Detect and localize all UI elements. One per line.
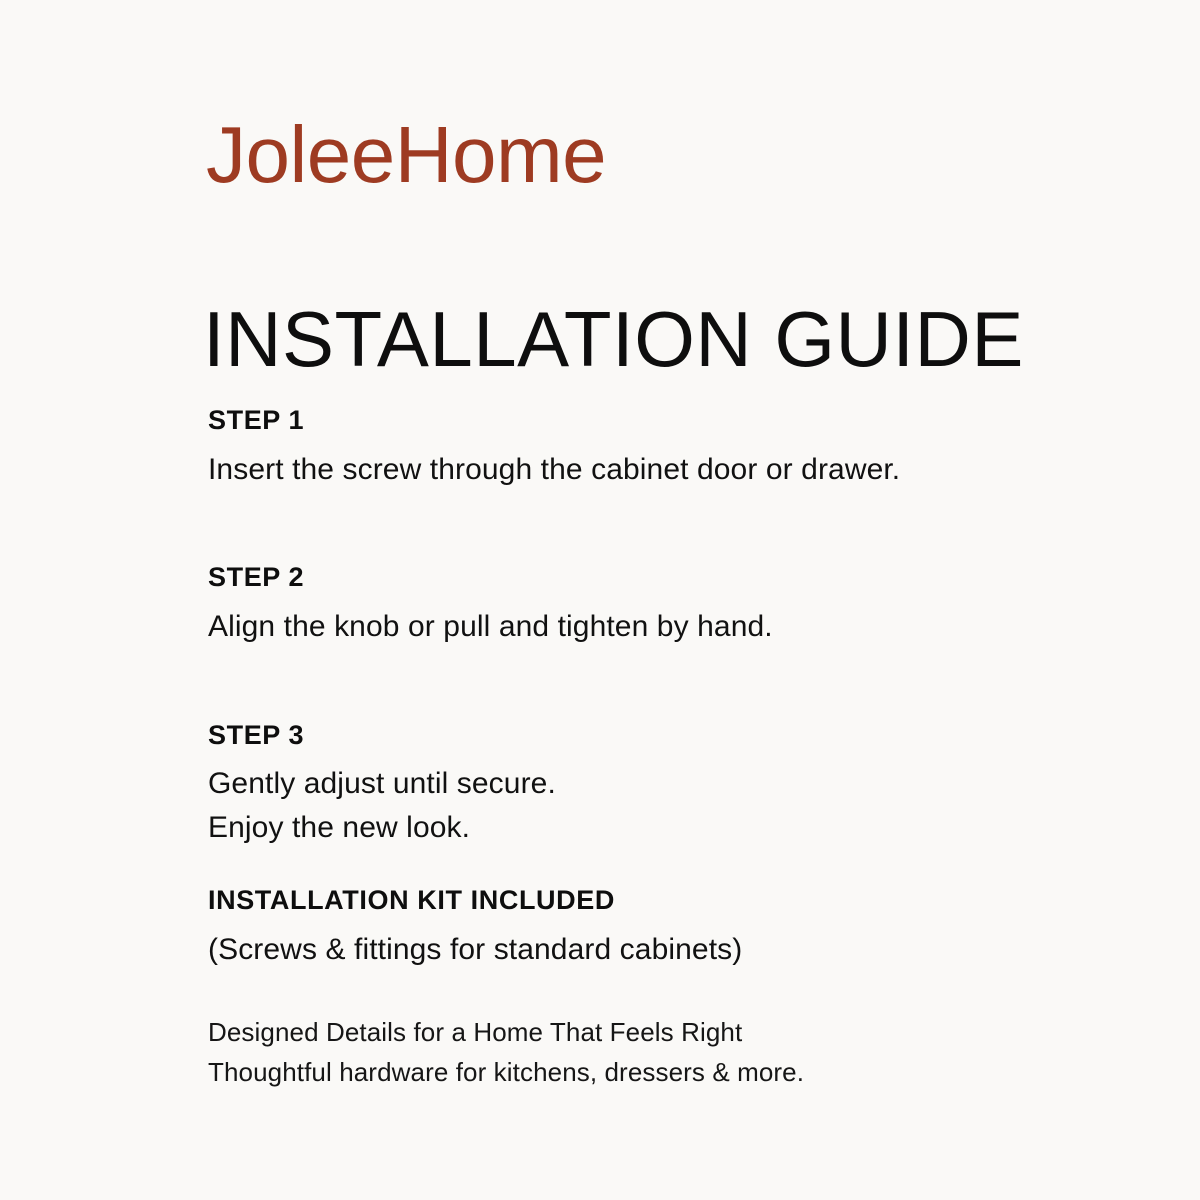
page-title: INSTALLATION GUIDE — [203, 300, 1024, 378]
step-description: Align the knob or pull and tighten by ha… — [208, 605, 1028, 649]
kit-subtitle: (Screws & fittings for standard cabinets… — [208, 928, 1028, 972]
brand-logo: JoleeHome — [206, 115, 606, 195]
step-item: STEP 2 Align the knob or pull and tighte… — [208, 561, 1028, 648]
kit-title: INSTALLATION KIT INCLUDED — [208, 884, 1028, 918]
step-label: STEP 3 — [208, 719, 1028, 753]
installation-kit-section: INSTALLATION KIT INCLUDED (Screws & fitt… — [208, 884, 1028, 971]
step-label: STEP 1 — [208, 404, 1028, 438]
footer-line-primary: Designed Details for a Home That Feels R… — [208, 1012, 1028, 1052]
step-description: Enjoy the new look. — [208, 806, 1028, 850]
installation-guide-page: JoleeHome INSTALLATION GUIDE STEP 1 Inse… — [0, 0, 1200, 1200]
steps-list: STEP 1 Insert the screw through the cabi… — [208, 404, 1028, 849]
step-item: STEP 3 Gently adjust until secure. Enjoy… — [208, 719, 1028, 850]
step-description: Gently adjust until secure. — [208, 762, 1028, 806]
step-description: Insert the screw through the cabinet doo… — [208, 448, 1028, 492]
footer-tagline: Designed Details for a Home That Feels R… — [208, 1012, 1028, 1093]
step-label: STEP 2 — [208, 561, 1028, 595]
footer-line-secondary: Thoughtful hardware for kitchens, dresse… — [208, 1052, 1028, 1092]
step-item: STEP 1 Insert the screw through the cabi… — [208, 404, 1028, 491]
